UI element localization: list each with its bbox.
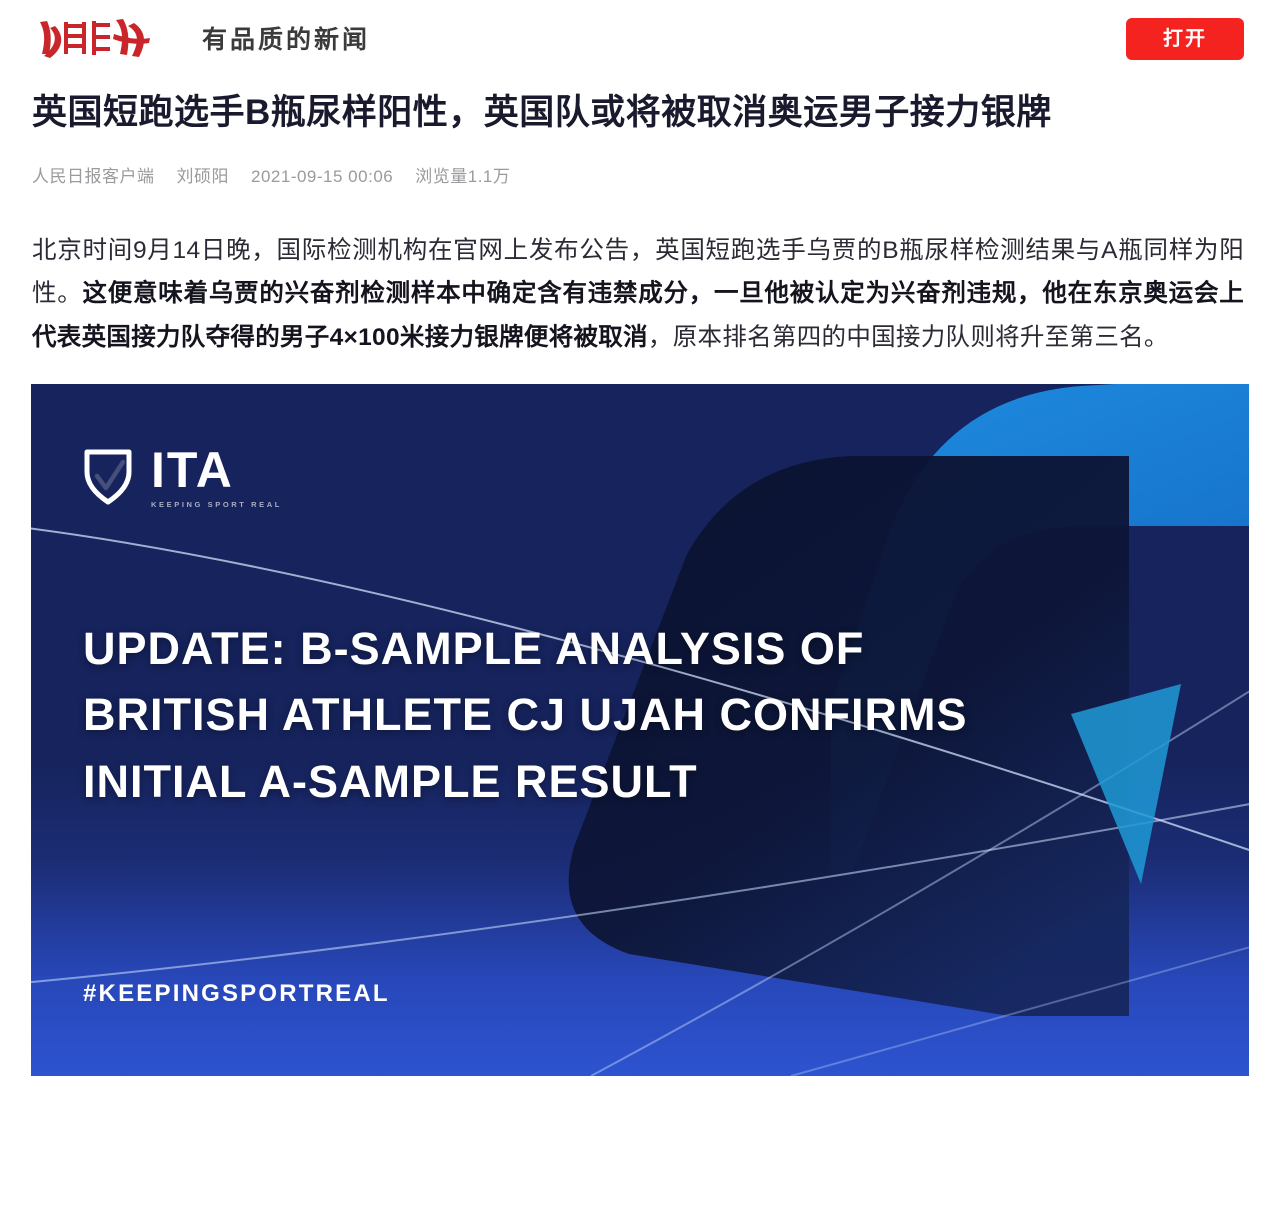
article-body-paragraph: 北京时间9月14日晚，国际检测机构在官网上发布公告，英国短跑选手乌贾的B瓶尿样检… [32,229,1244,360]
banner-headline: UPDATE: B-SAMPLE ANALYSIS OF BRITISH ATH… [83,616,968,816]
meta-author: 刘硕阳 [177,162,230,187]
ita-logo-text: ITA [151,446,282,495]
article-title: 英国短跑选手B瓶尿样阳性，英国队或将被取消奥运男子接力银牌 [32,90,1244,136]
site-header: 有品质的新闻 打开 [0,0,1280,76]
body-text-part3: ，原本排名第四的中国接力队则将升至第三名。 [648,324,1169,351]
article-meta: 人民日报客户端 刘硕阳 2021-09-15 00:06 浏览量1.1万 [32,162,1244,187]
banner-headline-line-2: BRITISH ATHLETE CJ UJAH CONFIRMS [83,682,968,749]
banner-headline-line-3: INITIAL A-SAMPLE RESULT [83,749,968,816]
ita-logo: ITA KEEPING SPORT REAL [79,446,282,509]
banner-headline-line-1: UPDATE: B-SAMPLE ANALYSIS OF [83,616,968,683]
banner-hashtag: #KEEPINGSPORTREAL [83,980,390,1008]
site-slogan: 有品质的新闻 [202,20,370,56]
ita-diamond-icon [79,446,137,508]
article: 英国短跑选手B瓶尿样阳性，英国队或将被取消奥运男子接力银牌 人民日报客户端 刘硕… [0,90,1280,359]
meta-views: 浏览量1.1万 [415,162,510,187]
meta-datetime: 2021-09-15 00:06 [251,167,393,187]
ita-logo-tagline: KEEPING SPORT REAL [151,500,282,509]
peoples-daily-logo-icon[interactable] [30,14,158,62]
open-app-button[interactable]: 打开 [1126,18,1244,60]
article-image-container: ITA KEEPING SPORT REAL UPDATE: B-SAMPLE … [0,384,1280,1076]
ita-announcement-banner[interactable]: ITA KEEPING SPORT REAL UPDATE: B-SAMPLE … [31,384,1249,1076]
meta-source: 人民日报客户端 [32,162,155,187]
